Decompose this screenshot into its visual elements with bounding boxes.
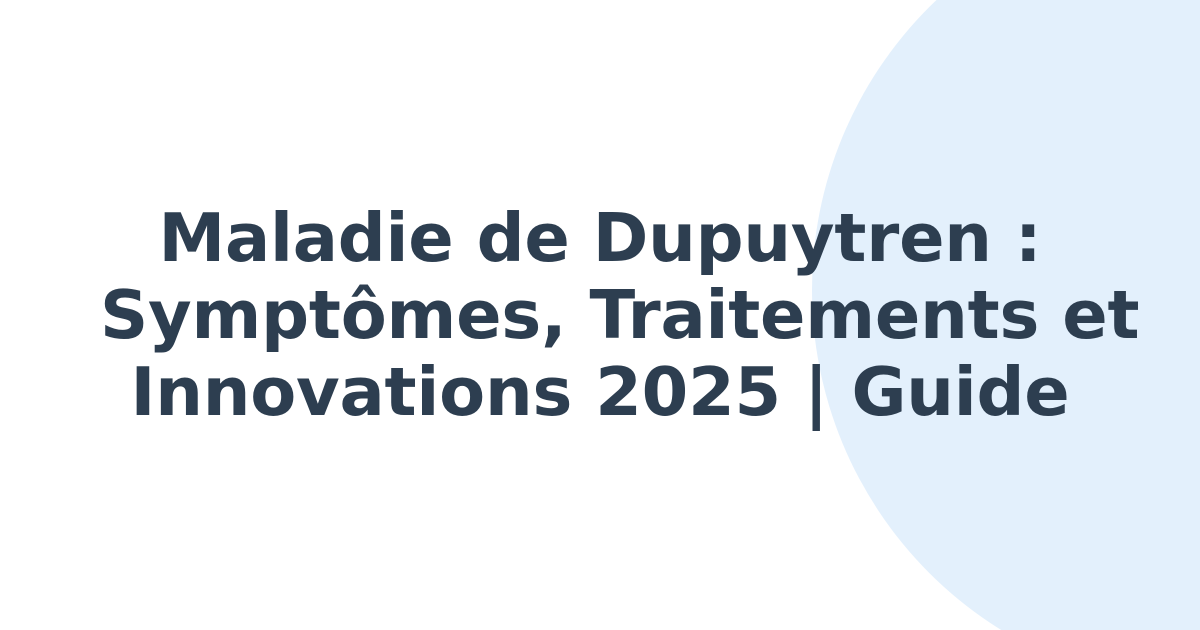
page-title-line-2: Symptômes, Traitements et — [100, 277, 1100, 354]
page-title: Maladie de Dupuytren : Symptômes, Traite… — [100, 200, 1100, 431]
og-card: Maladie de Dupuytren : Symptômes, Traite… — [0, 0, 1200, 630]
page-title-line-1: Maladie de Dupuytren : — [100, 200, 1100, 277]
page-title-line-3: Innovations 2025 | Guide — [100, 354, 1100, 431]
headline-container: Maladie de Dupuytren : Symptômes, Traite… — [0, 0, 1200, 630]
